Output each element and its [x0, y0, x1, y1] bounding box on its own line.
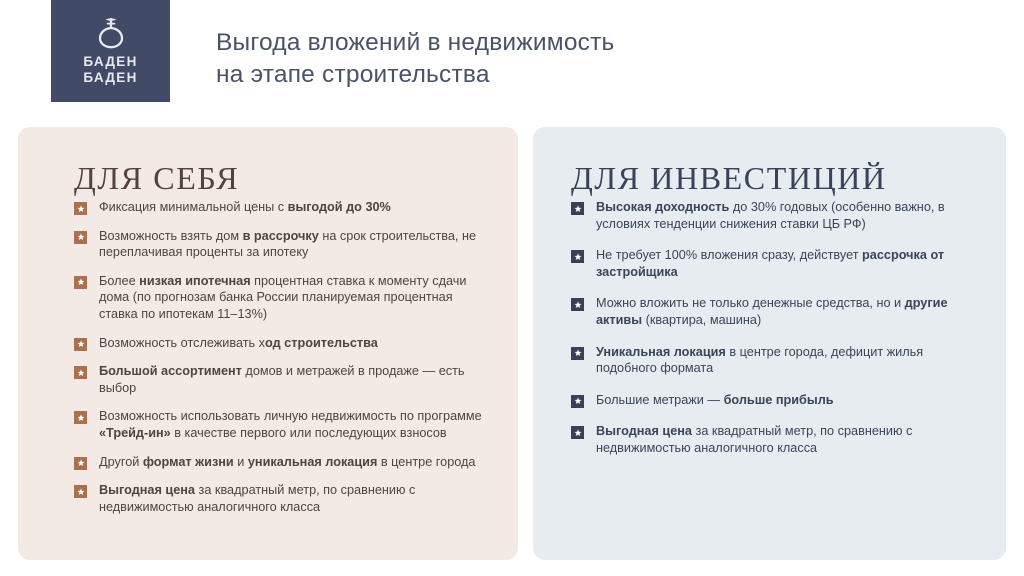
- bullet-star-marker: [74, 457, 87, 470]
- brand-logo: БАДЕН БАДЕН: [51, 0, 170, 102]
- bullet-star-marker: [74, 485, 87, 498]
- list-item: Можно вложить не только денежные средств…: [571, 295, 971, 328]
- star-icon: [77, 340, 85, 348]
- bullet-star-marker: [74, 411, 87, 424]
- star-icon: [77, 233, 85, 241]
- star-icon: [574, 301, 582, 309]
- brand-logo-text: БАДЕН БАДЕН: [83, 54, 137, 86]
- list-item: Фиксация минимальной цены с выгодой до 3…: [74, 199, 484, 216]
- star-icon: [574, 349, 582, 357]
- star-icon: [77, 459, 85, 467]
- list-item: Высокая доходность до 30% годовых (особе…: [571, 199, 971, 232]
- list-item-text: Не требует 100% вложения сразу, действуе…: [596, 247, 971, 280]
- bullet-star-marker: [74, 366, 87, 379]
- list-item: Возможность взять дом в рассрочку на сро…: [74, 228, 484, 261]
- bullet-star-marker: [571, 426, 584, 439]
- bathhouse-fountain-icon: [96, 16, 126, 49]
- star-icon: [77, 205, 85, 213]
- list-item: Уникальная локация в центре города, дефи…: [571, 344, 971, 377]
- star-icon: [77, 278, 85, 286]
- brand-logo-line-1: БАДЕН: [83, 54, 137, 70]
- page-title: Выгода вложений в недвижимость на этапе …: [216, 27, 836, 91]
- benefit-list-for-investment: Высокая доходность до 30% годовых (особе…: [571, 199, 971, 472]
- list-item: Большой ассортимент домов и метражей в п…: [74, 363, 484, 396]
- list-item: Более низкая ипотечная процентная ставка…: [74, 273, 484, 323]
- list-item-text: Другой формат жизни и уникальная локация…: [99, 454, 475, 471]
- list-item-text: Выгодная цена за квадратный метр, по сра…: [596, 423, 971, 456]
- list-item-text: Более низкая ипотечная процентная ставка…: [99, 273, 484, 323]
- list-item: Не требует 100% вложения сразу, действуе…: [571, 247, 971, 280]
- star-icon: [77, 369, 85, 377]
- list-item-text: Возможность взять дом в рассрочку на сро…: [99, 228, 484, 261]
- bullet-star-marker: [571, 347, 584, 360]
- list-item-text: Фиксация минимальной цены с выгодой до 3…: [99, 199, 391, 216]
- list-item: Выгодная цена за квадратный метр, по сра…: [74, 482, 484, 515]
- star-icon: [574, 205, 582, 213]
- list-item-text: Уникальная локация в центре города, дефи…: [596, 344, 971, 377]
- benefit-list-for-self: Фиксация минимальной цены с выгодой до 3…: [74, 199, 484, 526]
- list-item-text: Высокая доходность до 30% годовых (особе…: [596, 199, 971, 232]
- list-item: Выгодная цена за квадратный метр, по сра…: [571, 423, 971, 456]
- bullet-star-marker: [571, 298, 584, 311]
- list-item-text: Возможность отслеживать ход строительств…: [99, 335, 378, 352]
- star-icon: [77, 414, 85, 422]
- page-header: БАДЕН БАДЕН Выгода вложений в недвижимос…: [0, 0, 1024, 112]
- panel-heading-for-self: ДЛЯ СЕБЯ: [74, 160, 239, 197]
- star-icon: [574, 397, 582, 405]
- bullet-star-marker: [571, 202, 584, 215]
- brand-logo-line-2: БАДЕН: [83, 70, 137, 86]
- star-icon: [77, 488, 85, 496]
- list-item: Большие метражи — больше прибыль: [571, 392, 971, 409]
- panel-heading-for-investment: ДЛЯ ИНВЕСТИЦИЙ: [571, 160, 887, 197]
- bullet-star-marker: [74, 276, 87, 289]
- list-item-text: Большие метражи — больше прибыль: [596, 392, 834, 409]
- list-item-text: Большой ассортимент домов и метражей в п…: [99, 363, 484, 396]
- list-item-text: Выгодная цена за квадратный метр, по сра…: [99, 482, 484, 515]
- panel-for-self: ДЛЯ СЕБЯ Фиксация минимальной цены с выг…: [18, 127, 518, 560]
- bullet-star-marker: [74, 231, 87, 244]
- list-item: Возможность использовать личную недвижим…: [74, 408, 484, 441]
- bullet-star-marker: [74, 202, 87, 215]
- list-item: Другой формат жизни и уникальная локация…: [74, 454, 484, 471]
- list-item-text: Можно вложить не только денежные средств…: [596, 295, 971, 328]
- panel-for-investment: ДЛЯ ИНВЕСТИЦИЙ Высокая доходность до 30%…: [533, 127, 1006, 560]
- star-icon: [574, 429, 582, 437]
- list-item: Возможность отслеживать ход строительств…: [74, 335, 484, 352]
- bullet-star-marker: [571, 250, 584, 263]
- list-item-text: Возможность использовать личную недвижим…: [99, 408, 484, 441]
- bullet-star-marker: [74, 338, 87, 351]
- star-icon: [574, 253, 582, 261]
- bullet-star-marker: [571, 395, 584, 408]
